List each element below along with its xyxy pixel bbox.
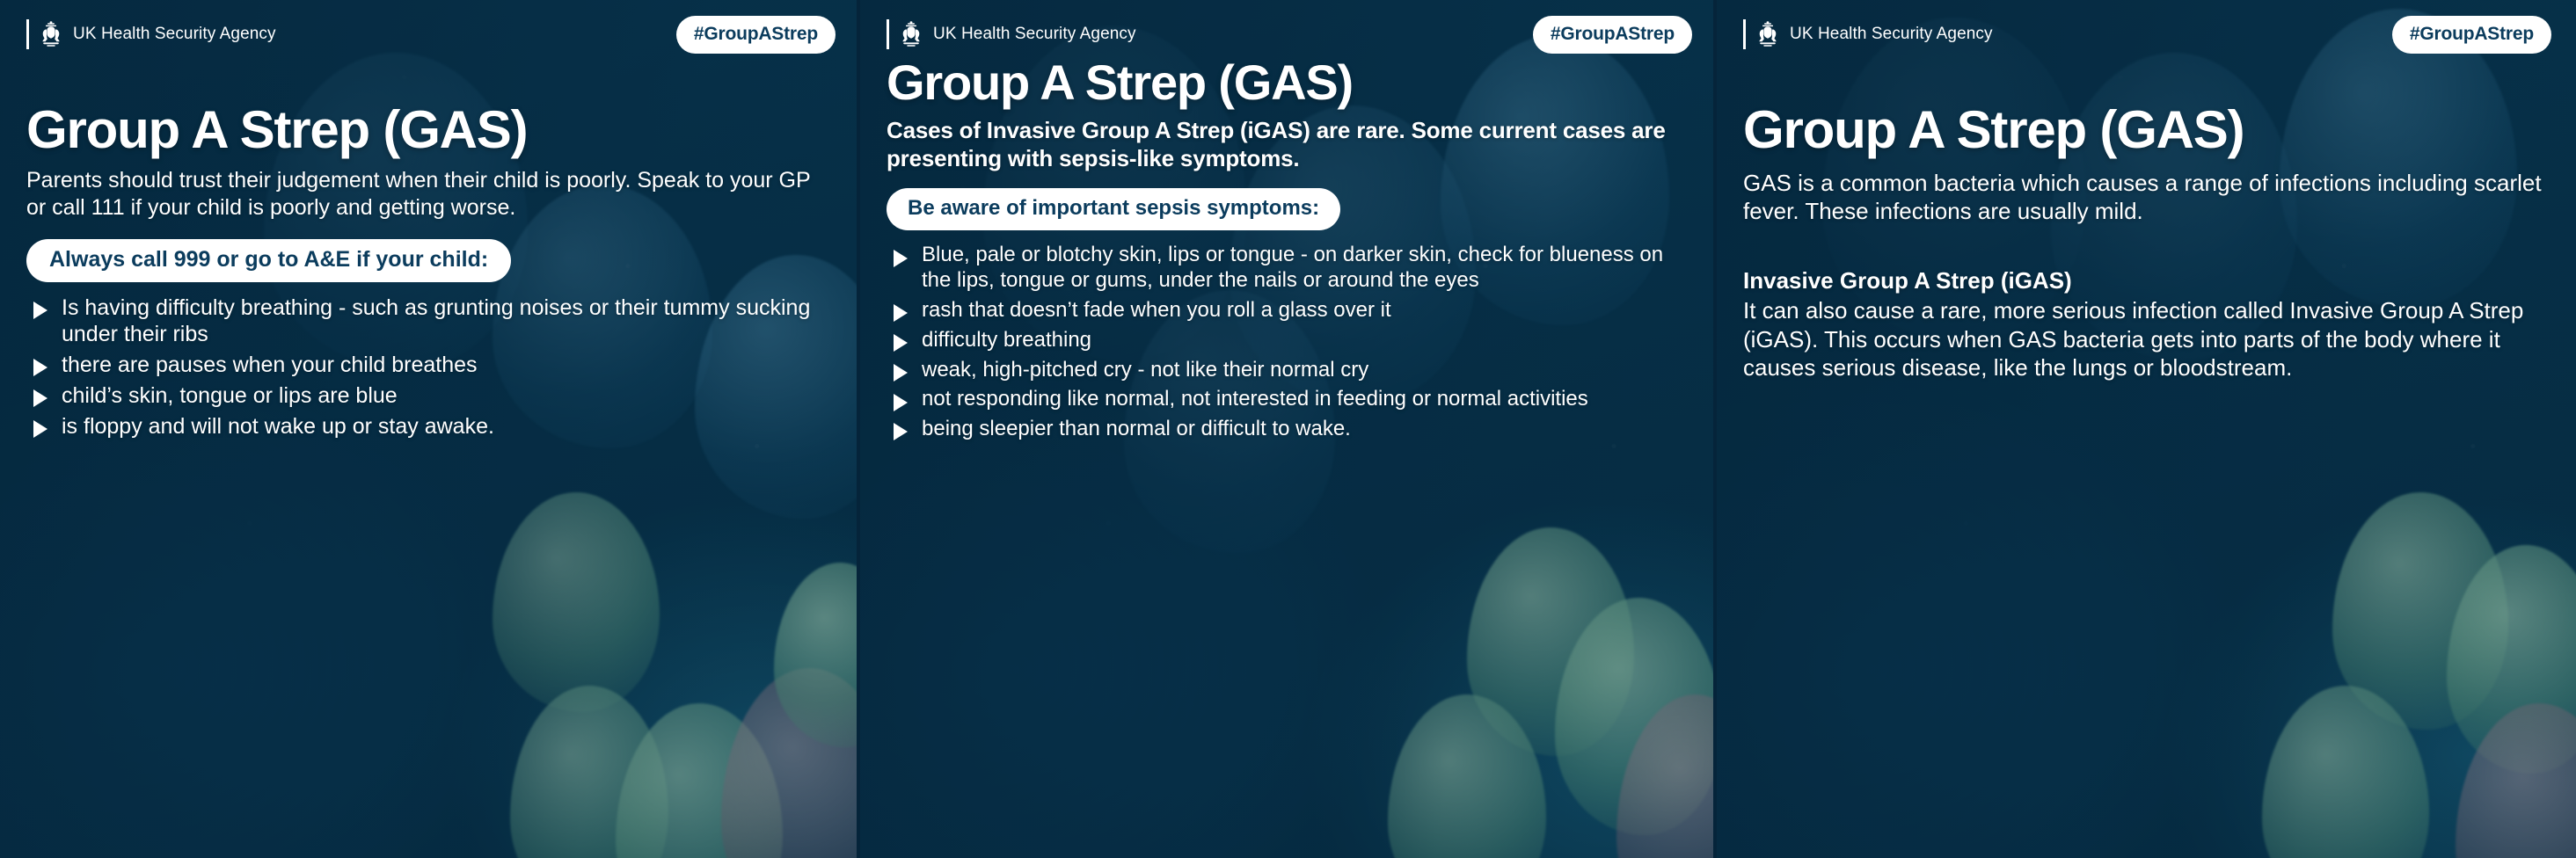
list-item-label: is floppy and will not wake up or stay a… [62,414,494,439]
triangle-bullet-icon [894,364,908,382]
list-item: child’s skin, tongue or lips are blue [26,382,834,409]
hashtag-badge[interactable]: #GroupAStrep [676,16,836,54]
list-item-label: difficulty breathing [922,328,1091,352]
triangle-bullet-icon [33,389,47,407]
triangle-bullet-icon [33,302,47,319]
triangle-bullet-icon [33,359,47,376]
panel-divider [857,0,860,858]
panel-parents-judgement: UK Health Security Agency #GroupAStrep G… [0,0,860,858]
list-item-label: there are pauses when your child breathe… [62,353,478,377]
list-item-label: being sleepier than normal or difficult … [922,417,1351,440]
list-item-label: Is having difficulty breathing - such as… [62,295,810,346]
triangle-bullet-icon [894,304,908,322]
royal-coat-of-arms-icon [898,20,924,48]
list-item: not responding like normal, not interest… [887,387,1690,412]
brand-name: UK Health Security Agency [933,25,1136,44]
hashtag-badge[interactable]: #GroupAStrep [2392,16,2551,54]
panel-sepsis-symptoms: UK Health Security Agency #GroupAStrep G… [860,0,1717,858]
symptom-list: Blue, pale or blotchy skin, lips or tong… [887,243,1690,442]
triangle-bullet-icon [894,394,908,411]
brand-rule [26,19,29,49]
list-item: rash that doesn’t fade when you roll a g… [887,298,1690,324]
list-item: there are pauses when your child breathe… [26,352,834,378]
list-item: is floppy and will not wake up or stay a… [26,413,834,440]
list-item: being sleepier than normal or difficult … [887,417,1690,442]
panel-header: UK Health Security Agency #GroupAStrep [860,0,1717,69]
list-item: difficulty breathing [887,328,1690,353]
triangle-bullet-icon [894,250,908,267]
infographic-board: UK Health Security Agency #GroupAStrep G… [0,0,2576,858]
hashtag-badge[interactable]: #GroupAStrep [1533,16,1692,54]
triangle-bullet-icon [894,423,908,440]
panel-content: Group A Strep (GAS) Parents should trust… [0,104,860,444]
royal-coat-of-arms-icon [38,20,64,48]
triangle-bullet-icon [894,334,908,352]
emergency-banner: Always call 999 or go to A&E if your chi… [26,239,511,282]
list-item: Is having difficulty breathing - such as… [26,294,834,347]
ukhsa-brand: UK Health Security Agency [1743,19,1993,49]
page-title: Group A Strep (GAS) [1743,104,2550,156]
panel-what-is-gas: UK Health Security Agency #GroupAStrep G… [1717,0,2576,858]
brand-rule [887,19,889,49]
ukhsa-brand: UK Health Security Agency [887,19,1136,49]
brand-name: UK Health Security Agency [1790,25,1993,44]
ukhsa-brand: UK Health Security Agency [26,19,276,49]
panel-header: UK Health Security Agency #GroupAStrep [1717,0,2576,69]
panel-divider [1713,0,1717,858]
symptom-list: Is having difficulty breathing - such as… [26,294,834,440]
brand-name: UK Health Security Agency [73,25,276,44]
igas-body: It can also cause a rare, more serious i… [1743,296,2550,382]
igas-subheading: Invasive Group A Strep (iGAS) [1743,267,2550,294]
list-item-label: child’s skin, tongue or lips are blue [62,383,398,408]
royal-coat-of-arms-icon [1755,20,1781,48]
list-item-label: not responding like normal, not interest… [922,387,1588,411]
list-item-label: weak, high-pitched cry - not like their … [922,358,1368,382]
list-item: weak, high-pitched cry - not like their … [887,358,1690,383]
panel-content: Group A Strep (GAS) Cases of Invasive Gr… [860,58,1717,447]
page-title: Group A Strep (GAS) [26,104,834,156]
panel-content: Group A Strep (GAS) GAS is a common bact… [1717,104,2576,382]
sepsis-banner: Be aware of important sepsis symptoms: [887,188,1340,230]
list-item-label: rash that doesn’t fade when you roll a g… [922,298,1391,322]
list-item: Blue, pale or blotchy skin, lips or tong… [887,243,1690,294]
list-item-label: Blue, pale or blotchy skin, lips or tong… [922,243,1663,292]
brand-rule [1743,19,1746,49]
panel-lede: Parents should trust their judgement whe… [26,167,834,222]
panel-header: UK Health Security Agency #GroupAStrep [0,0,860,69]
panel-lede: Cases of Invasive Group A Strep (iGAS) a… [887,116,1690,172]
triangle-bullet-icon [33,420,47,438]
panel-lede: GAS is a common bacteria which causes a … [1743,169,2550,225]
